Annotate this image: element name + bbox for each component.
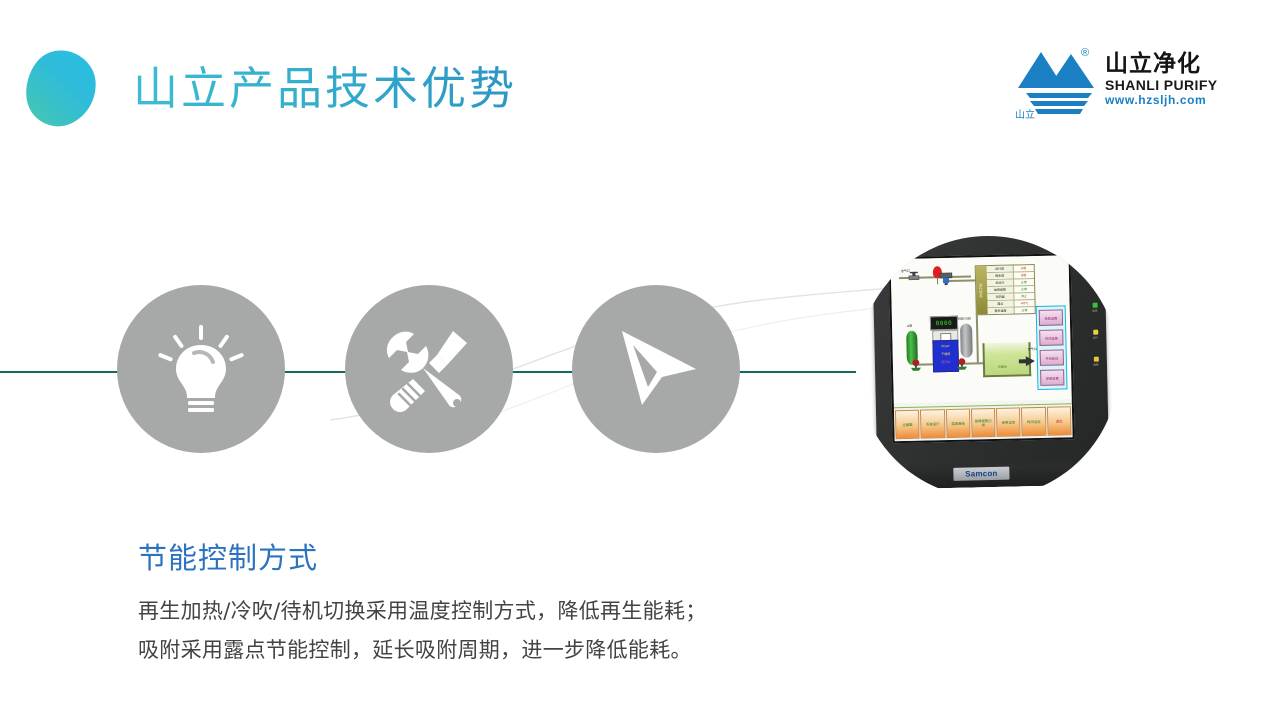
hmi-process-diagram: 进气口 运行状: [891, 255, 1072, 403]
lightbulb-icon: [158, 323, 244, 415]
page-title: 山立产品技术优势: [133, 58, 517, 120]
panel-led-group: 电源 运行 报警: [1088, 303, 1104, 384]
status-value: 停止: [1014, 293, 1035, 299]
table-row: 再生温度 正常: [988, 307, 1035, 314]
slide-root: 山立产品技术优势 ® 山立 山立净化 SHANLI PURIFY www.hzs…: [0, 0, 1280, 720]
led-label: 电源: [1092, 309, 1097, 313]
meter-value: 0000: [936, 319, 953, 326]
inlet-valve-icon: [908, 272, 920, 282]
status-label: 再生温度: [988, 308, 1015, 315]
status-label: 露点: [988, 301, 1015, 308]
led-indicator: 电源: [1088, 303, 1102, 313]
hmi-side-button[interactable]: 系统设置: [1039, 309, 1063, 326]
status-label: 再生塔: [987, 273, 1014, 280]
status-value: 正常: [1014, 307, 1035, 313]
gray-cylinder-label: B塔(冷却): [958, 317, 971, 321]
led-indicator: 运行: [1088, 330, 1102, 340]
outlet-valve-a-icon: [909, 359, 923, 372]
hmi-side-button-panel: 系统设置 时间设置 手动启动 参数设置: [1036, 305, 1068, 390]
hmi-side-button[interactable]: 时间设置: [1039, 329, 1063, 346]
adsorber-tower-b: [960, 323, 973, 357]
logo-text-block: 山立净化 SHANLI PURIFY www.hzsljh.com: [1105, 52, 1227, 108]
panel-brand-plate: Samcon: [953, 467, 1009, 481]
wrench-screwdriver-icon: [381, 323, 477, 415]
hmi-tab[interactable]: 主画面: [895, 410, 920, 440]
logo-website: www.hzsljh.com: [1105, 93, 1227, 108]
logo-mark-caption: 山立: [1015, 106, 1035, 121]
hmi-side-button[interactable]: 参数设置: [1040, 369, 1064, 386]
power-led-icon: [1092, 303, 1097, 308]
body-line-1: 再生加热/冷吹/待机切换采用温度控制方式，降低再生能耗；: [138, 592, 707, 631]
status-value: -40℃: [1014, 300, 1035, 306]
hmi-tab-bar: 主画面 系统运行 温度曲线 故障报警记录 参数设定 时间设定 退出: [894, 403, 1073, 441]
outlet-valve-b-icon: [955, 358, 969, 371]
hmi-tab[interactable]: 参数设定: [996, 407, 1021, 437]
hmi-screen[interactable]: 进气口 运行状: [888, 253, 1074, 443]
hmi-side-button[interactable]: 手动启动: [1040, 349, 1064, 366]
body-paragraph: 再生加热/冷吹/待机切换采用温度控制方式，降低再生能耗； 吸附采用露点节能控制，…: [138, 592, 707, 670]
outlet-arrow-icon: [1026, 356, 1035, 366]
status-label: 故障报警: [987, 287, 1014, 294]
pipe-down: [976, 313, 979, 363]
body-line-2: 吸附采用露点节能控制，延长吸附周期，进一步降低能耗。: [138, 631, 707, 670]
led-indicator: 报警: [1089, 357, 1103, 367]
hmi-tab[interactable]: 时间设定: [1021, 407, 1046, 437]
status-label: 总运行: [987, 280, 1014, 287]
status-table-rows: 运行塔 A塔 再生塔 B塔 总运行 正常: [987, 265, 1035, 314]
hmi-control-panel-photo: 进气口 运行状: [857, 236, 1119, 498]
logo-company-cn: 山立净化: [1105, 52, 1227, 77]
registered-trademark-icon: ®: [1081, 47, 1089, 59]
cursor-arrow-icon: [610, 325, 702, 413]
status-label: 运行塔: [987, 266, 1014, 273]
digital-meter: 0000: [930, 316, 958, 331]
company-logo: ® 山立 山立净化 SHANLI PURIFY www.hzsljh.com: [1013, 44, 1225, 122]
section-heading: 节能控制方式: [138, 539, 318, 577]
hmi-tab[interactable]: 故障报警记录: [971, 408, 996, 438]
led-label: 报警: [1093, 363, 1098, 367]
alarm-led-icon: [1093, 357, 1098, 362]
step-tools-circle[interactable]: [345, 285, 513, 453]
hmi-tab[interactable]: 温度曲线: [946, 409, 971, 439]
hmi-tab-exit[interactable]: 退出: [1047, 406, 1072, 436]
outlet-label: 出气口: [1028, 348, 1037, 352]
led-label: 运行: [1093, 336, 1098, 340]
status-value: B塔: [1013, 272, 1034, 278]
dryer-tank-label: 干燥塔: [934, 352, 958, 357]
status-value: A塔: [1013, 265, 1034, 271]
hmi-tab[interactable]: 系统运行: [920, 409, 945, 439]
step-idea-circle[interactable]: [117, 285, 285, 453]
basin-label: 冷却水: [998, 365, 1007, 369]
control-valve-icon: [939, 272, 953, 286]
cylinder-label: A塔: [907, 325, 912, 329]
logo-company-en: SHANLI PURIFY: [1105, 77, 1227, 93]
status-label: 加热器: [987, 294, 1014, 301]
step-cursor-circle[interactable]: [572, 285, 740, 453]
run-led-icon: [1093, 330, 1098, 335]
dryer-tank-label-top: Dryer: [933, 344, 957, 349]
status-value: 正常: [1014, 279, 1035, 285]
status-value: 正常: [1014, 286, 1035, 292]
teal-blob-decoration-icon: [25, 49, 97, 127]
hmi-panel-device: 进气口 运行状: [872, 236, 1114, 498]
status-table: 运行状态 运行塔 A塔 再生塔 B塔 总运行: [975, 264, 1036, 315]
